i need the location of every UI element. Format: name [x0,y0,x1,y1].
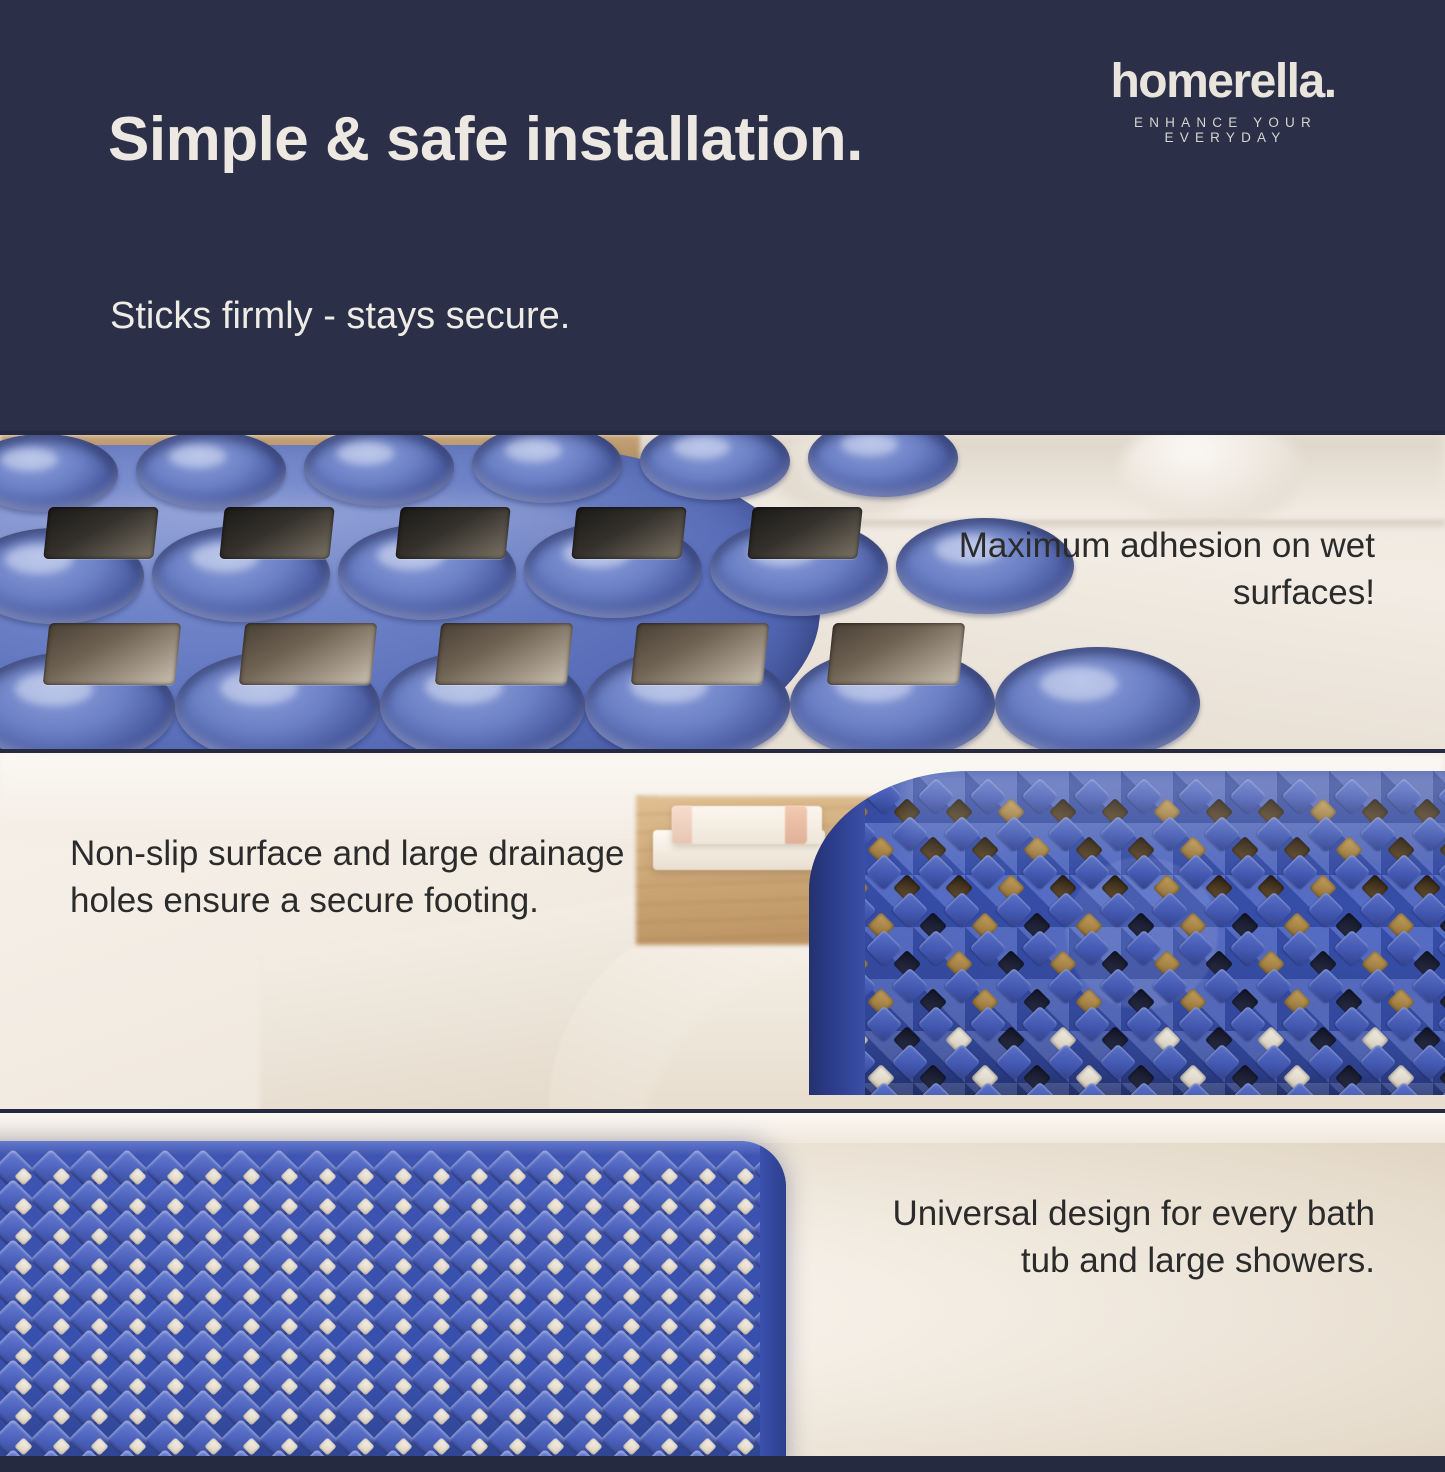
drainage-hole [239,623,378,685]
soap-band-right [785,806,807,844]
drainage-hole [219,507,334,559]
mat-raised-nub [970,1082,1007,1095]
drainage-hole [435,623,574,685]
bath-mat-draped [809,771,1445,1095]
suction-cup [995,647,1200,749]
feature-panel-adhesion: Maximum adhesion on wet surfaces! [0,431,1445,749]
feature-panel-universal: Universal design for every bath tub and … [0,1109,1445,1468]
mat-raised-nub [1386,1082,1423,1095]
mat-raised-nub [1334,1082,1371,1095]
mat-raised-nub [1022,1082,1059,1095]
bath-mat-closeup [0,445,820,749]
page-subtitle: Sticks firmly - stays secure. [110,292,570,341]
mat-raised-nub [1126,1082,1163,1095]
panel1-caption: Maximum adhesion on wet surfaces! [845,523,1375,616]
bath-mat-full [0,1141,786,1468]
suction-cup [472,431,622,503]
mat-raised-nub [1230,1082,1267,1095]
mat-raised-nub [1178,1082,1215,1095]
drainage-hole [43,507,158,559]
brand-logo: homerella. ENHANCE YOUR EVERYDAY [1073,58,1373,145]
page-title: Simple & safe installation. [108,96,868,184]
feature-panel-nonslip: Non-slip surface and large drainage hole… [0,749,1445,1109]
drainage-hole [395,507,510,559]
bathtub-top-rim [0,1113,1445,1143]
drainage-hole [827,623,966,685]
suction-cup [136,431,286,509]
brand-name: homerella. [1073,58,1373,106]
mat-raised-nub [918,1082,955,1095]
mat-raised-nub [1074,1082,1111,1095]
drainage-hole [571,507,686,559]
drainage-hole [631,623,770,685]
product-infographic: Simple & safe installation. Sticks firml… [0,0,1445,1472]
mat-rolled-edge [809,771,865,1095]
panel2-caption: Non-slip surface and large drainage hole… [70,831,690,924]
header-banner: Simple & safe installation. Sticks firml… [0,0,1445,431]
mat-right-border [760,1141,786,1468]
bottom-divider [0,1456,1445,1472]
panel3-caption: Universal design for every bath tub and … [885,1191,1375,1284]
mat-highlight [902,771,1445,875]
mat-raised-nub [1282,1082,1319,1095]
mat-diamond-pattern [0,1141,786,1468]
drainage-hole [43,623,182,685]
brand-tagline: ENHANCE YOUR EVERYDAY [1073,115,1373,145]
suction-cup [304,431,454,506]
mat-raised-nub [866,1082,903,1095]
